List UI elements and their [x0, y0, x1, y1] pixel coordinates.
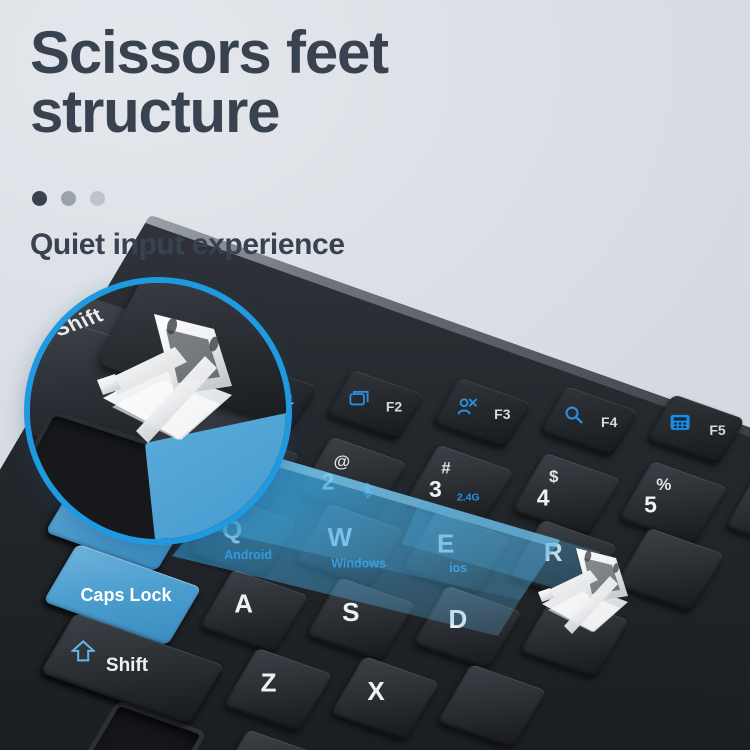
- key-2[interactable]: @ 2: [298, 436, 408, 521]
- key-f3[interactable]: F3: [433, 378, 532, 449]
- scissor-switch-magnifier: Shift: [24, 277, 292, 545]
- key-5-main: 5: [644, 492, 657, 519]
- key-f3-label: F3: [494, 406, 510, 422]
- key-f2-label: F2: [386, 398, 402, 414]
- key-f2[interactable]: F2: [326, 370, 425, 441]
- window-icon: [349, 390, 368, 405]
- key-5-top: %: [656, 475, 671, 495]
- shift-arrow-icon: [71, 640, 95, 667]
- page-title: Scissors feet structure: [30, 24, 388, 142]
- key-f5[interactable]: F5: [647, 394, 746, 465]
- search-person-icon: [457, 398, 476, 413]
- key-e-sub: ios: [449, 561, 467, 575]
- dot-active[interactable]: [32, 191, 47, 206]
- key-capslock-label: Caps Lock: [80, 585, 171, 606]
- key-f4-label: F4: [601, 414, 617, 430]
- calculator-icon-svg: [671, 415, 690, 430]
- key-4-top: $: [549, 467, 558, 487]
- key-shift-label: Shift: [106, 655, 148, 677]
- bluetooth-icon-svg: [362, 482, 373, 498]
- calculator-icon: [671, 415, 690, 430]
- page-subtitle: Quiet input experience: [30, 228, 345, 262]
- key-f5-label: F5: [709, 422, 725, 438]
- key-z-main: Z: [261, 667, 277, 698]
- key-3-sub: 2.4G: [457, 491, 480, 503]
- magnifier-content: Shift: [24, 277, 292, 545]
- shift-arrow-icon-svg: [71, 640, 95, 662]
- key-5[interactable]: % 5: [618, 461, 728, 546]
- key-3-main: 3: [429, 476, 442, 503]
- scissor-foot-switch-main: [524, 540, 664, 660]
- key-socket-empty: [75, 700, 208, 750]
- dot-inactive-1[interactable]: [61, 191, 76, 206]
- bluetooth-icon-2: [362, 482, 373, 503]
- carousel-dots[interactable]: [32, 191, 105, 206]
- key-3-top: #: [441, 458, 450, 478]
- magnifier-icon-svg: [564, 406, 583, 424]
- dot-inactive-2[interactable]: [90, 191, 105, 206]
- search-person-icon-svg: [457, 398, 477, 416]
- scissor-foot-switch-magnified: [76, 297, 286, 487]
- key-4[interactable]: $ 4: [511, 453, 621, 538]
- key-3[interactable]: # 3 2.4G: [404, 445, 514, 530]
- key-4-main: 4: [537, 484, 550, 511]
- key-2-main: 2: [322, 469, 335, 496]
- key-fn[interactable]: fn: [214, 729, 335, 750]
- product-marketing-banner: F1 F2 F3: [0, 0, 750, 750]
- magnifier-icon: [564, 406, 583, 421]
- key-2-top: @: [334, 452, 351, 472]
- key-e-main: E: [437, 529, 454, 560]
- window-icon-svg: [349, 390, 369, 406]
- key-f4[interactable]: F4: [540, 386, 639, 457]
- key-6[interactable]: [725, 469, 750, 554]
